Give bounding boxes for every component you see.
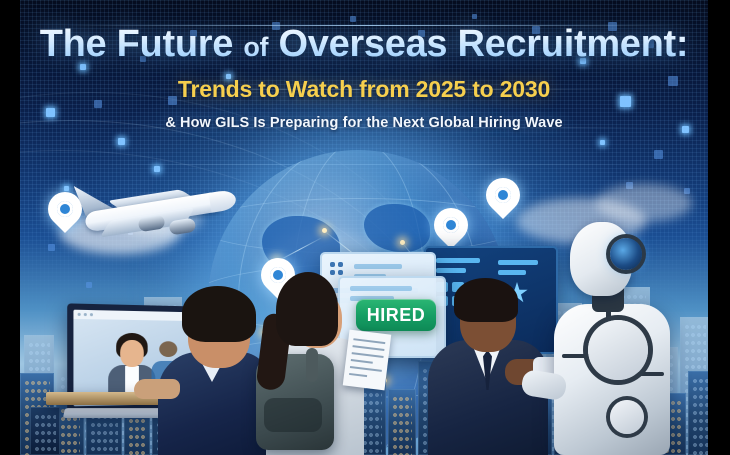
letterbox-right: [708, 0, 730, 455]
document-paper: [343, 330, 392, 391]
banner-text-block: The Future of Overseas Recruitment: Tren…: [20, 24, 708, 131]
hired-badge-label: HIRED: [367, 306, 426, 324]
backpack-traveler: [254, 272, 372, 455]
letterbox-left: [0, 0, 20, 455]
page-title: The Future of Overseas Recruitment:: [20, 24, 708, 65]
robot-ear-sensor: [610, 238, 642, 270]
title-part-1: The Future: [40, 23, 233, 65]
humanoid-ai-robot: [548, 222, 684, 455]
title-part-2: Overseas Recruitment:: [278, 23, 688, 65]
banner-artwork: HIRED: [20, 0, 708, 455]
tagline: & How GILS Is Preparing for the Next Glo…: [20, 115, 708, 131]
robot-shoulder-joint: [588, 320, 648, 380]
subtitle: Trends to Watch from 2025 to 2030: [20, 76, 708, 103]
airplane-engine: [138, 214, 166, 232]
hero-banner: HIRED: [0, 0, 730, 455]
airplane-engine: [168, 218, 196, 236]
laptop-interviewer: [152, 286, 270, 455]
robot-elbow-joint: [610, 400, 644, 434]
title-part-of: of: [243, 32, 268, 62]
interviewer-hand: [134, 379, 180, 399]
